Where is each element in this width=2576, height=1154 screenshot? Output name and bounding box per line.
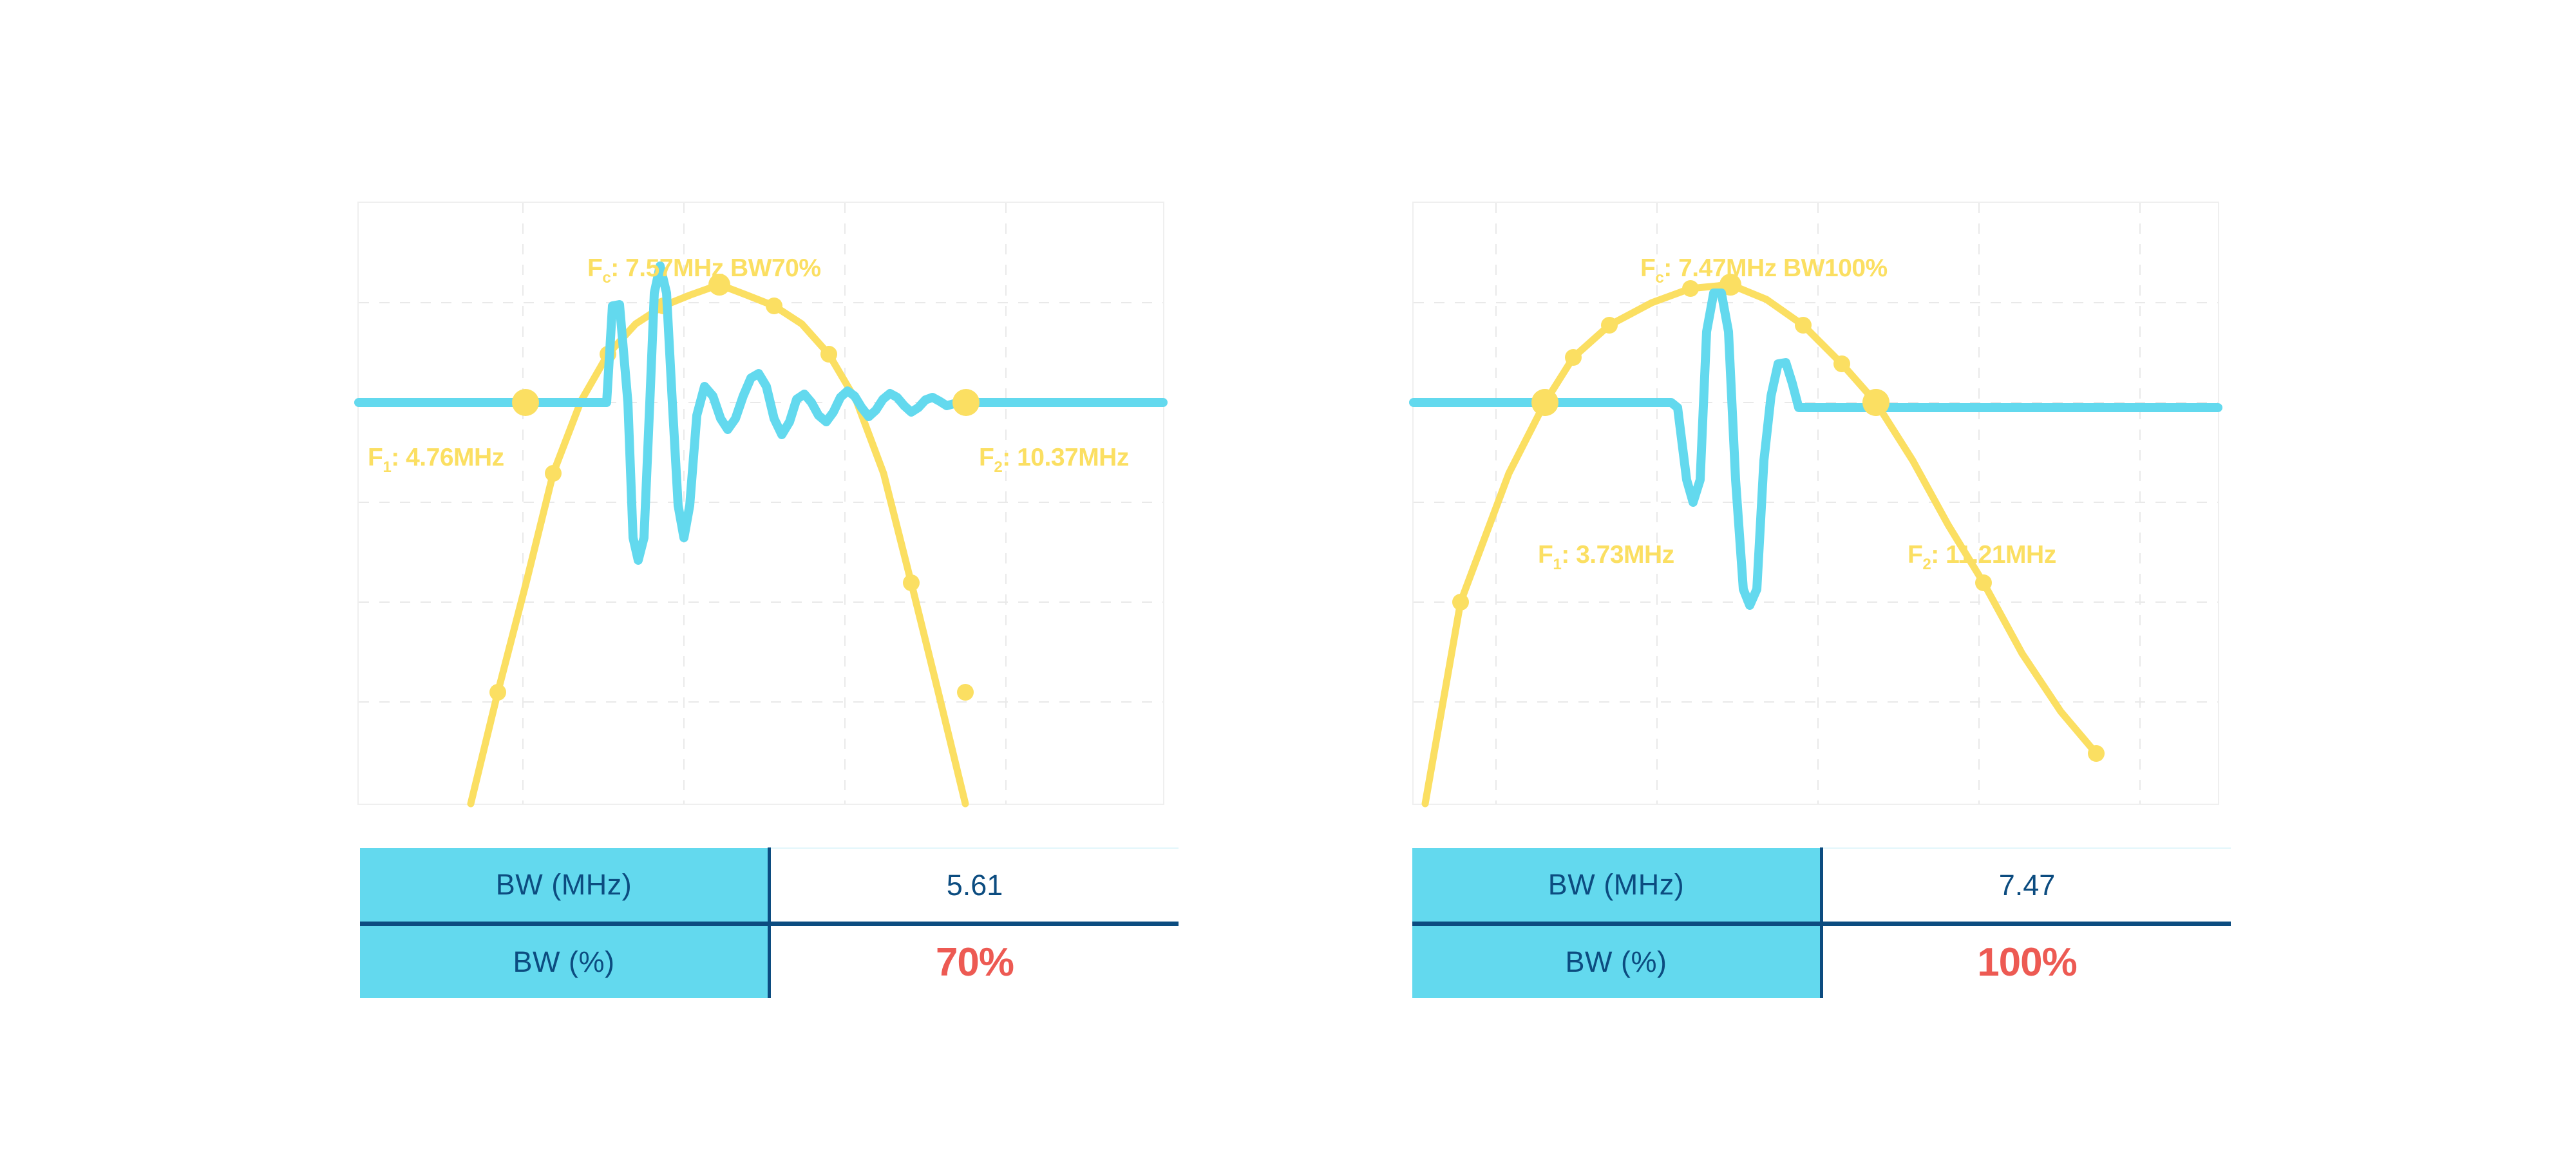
plot-canvas-left: [359, 203, 1163, 804]
fc-subscript-right: c: [1655, 269, 1663, 287]
f2-subscript-right: 2: [1922, 556, 1931, 573]
f2-text-left: : 10.37MHz: [1002, 444, 1129, 471]
plot-frame-left: Fc: 7.57MHz BW70% F1: 4.76MHz F2: 10.37M…: [357, 202, 1164, 805]
bandwidth-panel-right: Fc: 7.47MHz BW100% F1: 3.73MHz F2: 11.21…: [1412, 202, 2219, 805]
plot-frame-right: Fc: 7.47MHz BW100% F1: 3.73MHz F2: 11.21…: [1412, 202, 2219, 805]
fc-text-right: : 7.47MHz BW100%: [1663, 254, 1887, 282]
annotation-lower-frequency-right: F1: 3.73MHz: [1538, 542, 1674, 572]
annotation-upper-frequency-left: F2: 10.37MHz: [979, 445, 1129, 475]
row-header-bw-mhz-left: BW (MHz): [360, 848, 770, 924]
annotation-lower-frequency-left: F1: 4.76MHz: [368, 445, 504, 475]
row-header-bw-mhz-right: BW (MHz): [1412, 848, 1822, 924]
table-row: BW (%) 100%: [1412, 924, 2231, 999]
annotation-center-frequency-right: Fc: 7.47MHz BW100%: [1640, 256, 1888, 286]
f2-text-right: : 11.21MHz: [1931, 541, 2056, 569]
bandwidth-table-right: BW (MHz) 7.47 BW (%) 100%: [1412, 847, 2231, 992]
fc-symbol-left: F: [587, 254, 602, 282]
row-value-bw-pct-left: 70%: [770, 924, 1179, 999]
row-value-bw-pct-right: 100%: [1822, 924, 2231, 999]
bandwidth-table-left: BW (MHz) 5.61 BW (%) 70%: [360, 847, 1179, 992]
grid-lines-left: [359, 203, 1163, 804]
plot-canvas-right: [1414, 203, 2218, 804]
f1-symbol-left: F: [368, 444, 383, 471]
spectrum-markers-left: [489, 274, 974, 701]
fc-symbol-right: F: [1640, 254, 1655, 282]
annotation-upper-frequency-right: F2: 11.21MHz: [1908, 542, 2056, 572]
f1-symbol-right: F: [1538, 541, 1553, 569]
grid-lines-right: [1414, 203, 2218, 804]
table-row: BW (%) 70%: [360, 924, 1179, 999]
f2-subscript-left: 2: [994, 459, 1002, 476]
table-row: BW (MHz) 5.61: [360, 848, 1179, 924]
row-value-bw-mhz-left: 5.61: [770, 848, 1179, 924]
table-left: BW (MHz) 5.61 BW (%) 70%: [360, 847, 1179, 998]
spectrum-markers-right: [1452, 274, 2105, 762]
figure-root: Fc: 7.57MHz BW70% F1: 4.76MHz F2: 10.37M…: [0, 0, 2576, 1154]
table-row: BW (MHz) 7.47: [1412, 848, 2231, 924]
annotation-center-frequency-left: Fc: 7.57MHz BW70%: [587, 256, 821, 286]
f1-subscript-right: 1: [1553, 556, 1561, 573]
row-header-bw-pct-right: BW (%): [1412, 924, 1822, 999]
f1-text-right: : 3.73MHz: [1561, 541, 1674, 569]
fc-text-left: : 7.57MHz BW70%: [611, 254, 820, 282]
row-value-bw-mhz-right: 7.47: [1822, 848, 2231, 924]
row-header-bw-pct-left: BW (%): [360, 924, 770, 999]
bandwidth-panel-left: Fc: 7.57MHz BW70% F1: 4.76MHz F2: 10.37M…: [357, 202, 1164, 805]
f2-symbol-right: F: [1908, 541, 1922, 569]
fc-subscript-left: c: [602, 269, 611, 287]
f2-symbol-left: F: [979, 444, 994, 471]
f1-subscript-left: 1: [383, 459, 391, 476]
table-right: BW (MHz) 7.47 BW (%) 100%: [1412, 847, 2231, 998]
spectrum-curve-left: [471, 285, 965, 804]
f1-text-left: : 4.76MHz: [391, 444, 504, 471]
echo-waveform-left: [359, 266, 1163, 560]
